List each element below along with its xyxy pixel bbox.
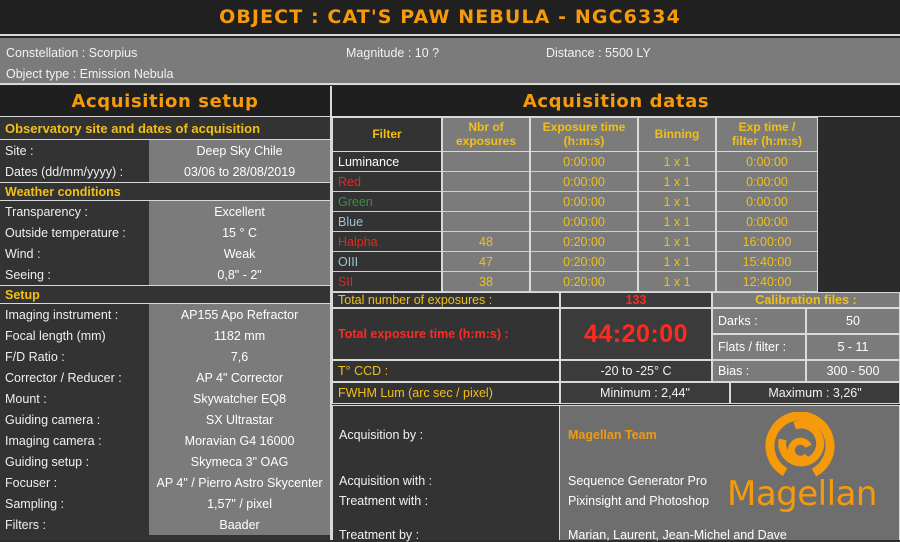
- row-key: Seeing :: [0, 264, 149, 285]
- row-spacer: [818, 272, 900, 292]
- filter-binning: 1 x 1: [638, 172, 716, 192]
- filters-table: Filter Nbr ofexposures Exposure time(h:m…: [332, 117, 900, 292]
- acquisition-with-value: Sequence Generator Pro: [568, 474, 707, 488]
- totals-row-time: Total exposure time (h:m:s) : 44:20:00 D…: [332, 308, 900, 360]
- section-title-weather: Weather conditions: [5, 185, 121, 199]
- total-time-wrap: Total exposure time (h:m:s) : 44:20:00: [332, 308, 712, 360]
- object-info-strip: Constellation : Scorpius Magnitude : 10 …: [0, 38, 900, 85]
- filters-table-header-row: Filter Nbr ofexposures Exposure time(h:m…: [332, 117, 900, 152]
- credits-labels: Acquisition by : Acquisition with : Trea…: [332, 406, 560, 540]
- calibration-key: Bias :: [712, 360, 806, 382]
- table-row: Filters : Baader: [0, 514, 330, 535]
- row-spacer: [818, 232, 900, 252]
- totals-row-ccd: T° CCD : -20 to -25° C Bias : 300 - 500: [332, 360, 900, 382]
- table-row: Site : Deep Sky Chile: [0, 140, 330, 161]
- data-sheet: OBJECT : CAT'S PAW NEBULA - NGC6334 Cons…: [0, 0, 900, 540]
- weather-rows: Transparency : Excellent Outside tempera…: [0, 201, 330, 285]
- filter-nbr: 47: [442, 252, 530, 272]
- row-key: Mount :: [0, 388, 149, 409]
- object-type-text: Object type : Emission Nebula: [6, 67, 346, 81]
- row-value: 1,57" / pixel: [149, 493, 330, 514]
- row-spacer: [818, 172, 900, 192]
- filter-name: Halpha: [332, 232, 442, 252]
- row-value: Excellent: [149, 201, 330, 222]
- row-value: Moravian G4 16000: [149, 430, 330, 451]
- magnitude-text: Magnitude : 10 ?: [346, 46, 546, 60]
- row-key: Corrector / Reducer :: [0, 367, 149, 388]
- row-spacer: [818, 252, 900, 272]
- totals-row-fwhm: FWHM Lum (arc sec / pixel) Minimum : 2,4…: [332, 382, 900, 404]
- total-exposure-time-label: Total exposure time (h:m:s) :: [332, 308, 560, 360]
- credits-block: Acquisition by : Acquisition with : Trea…: [332, 405, 900, 540]
- treatment-with-value: Pixinsight and Photoshop: [568, 494, 709, 508]
- object-info-row-1: Constellation : Scorpius Magnitude : 10 …: [6, 42, 894, 63]
- table-row: Mount : Skywatcher EQ8: [0, 388, 330, 409]
- filter-name: Green: [332, 192, 442, 212]
- filter-exposure: 0:00:00: [530, 212, 638, 232]
- fwhm-label: FWHM Lum (arc sec / pixel): [332, 382, 560, 404]
- row-value: 15 ° C: [149, 222, 330, 243]
- filter-exp-total: 12:40:00: [716, 272, 818, 292]
- table-row: Imaging instrument : AP155 Apo Refractor: [0, 304, 330, 325]
- column-header-binning: Binning: [638, 117, 716, 152]
- acquisition-setup-header: Acquisition setup: [0, 86, 332, 117]
- filter-name: OIII: [332, 252, 442, 272]
- row-value: AP 4" / Pierro Astro Skycenter: [149, 472, 330, 493]
- total-exposures-value: 133: [560, 292, 712, 308]
- setup-rows: Imaging instrument : AP155 Apo Refractor…: [0, 304, 330, 535]
- distance-text: Distance : 5500 LY: [546, 46, 766, 60]
- filter-exp-total: 15:40:00: [716, 252, 818, 272]
- row-value: Skywatcher EQ8: [149, 388, 330, 409]
- filter-name: Red: [332, 172, 442, 192]
- filter-exposure: 0:20:00: [530, 272, 638, 292]
- page-title-bar: OBJECT : CAT'S PAW NEBULA - NGC6334: [0, 0, 900, 36]
- treatment-with-label: Treatment with :: [339, 494, 428, 508]
- row-key: Guiding camera :: [0, 409, 149, 430]
- row-key: Guiding setup :: [0, 451, 149, 472]
- table-row: F/D Ratio : 7,6: [0, 346, 330, 367]
- row-value: Weak: [149, 243, 330, 264]
- row-key: Focal length (mm): [0, 325, 149, 346]
- table-row: OIII 47 0:20:00 1 x 1 15:40:00: [332, 252, 900, 272]
- filter-nbr: [442, 152, 530, 172]
- row-value: Skymeca 3" OAG: [149, 451, 330, 472]
- ccd-temp-value: -20 to -25° C: [560, 360, 712, 382]
- total-exposure-time-value: 44:20:00: [560, 308, 712, 360]
- total-exposures-label: Total number of exposures :: [332, 292, 560, 308]
- table-row: Seeing : 0,8" - 2": [0, 264, 330, 285]
- filter-binning: 1 x 1: [638, 192, 716, 212]
- filter-exp-total: 0:00:00: [716, 172, 818, 192]
- filter-exposure: 0:00:00: [530, 172, 638, 192]
- row-key: Imaging camera :: [0, 430, 149, 451]
- table-row: Halpha 48 0:20:00 1 x 1 16:00:00: [332, 232, 900, 252]
- row-key: Site :: [0, 140, 149, 161]
- column-header-filter: Filter: [332, 117, 442, 152]
- calibration-key: Flats / filter :: [712, 334, 806, 360]
- filter-nbr: 48: [442, 232, 530, 252]
- row-spacer: [818, 192, 900, 212]
- table-row: Blue 0:00:00 1 x 1 0:00:00: [332, 212, 900, 232]
- object-info-row-2: Object type : Emission Nebula: [6, 63, 894, 84]
- row-key: Wind :: [0, 243, 149, 264]
- filter-exposure: 0:00:00: [530, 152, 638, 172]
- row-value: Baader: [149, 514, 330, 535]
- table-row: Corrector / Reducer : AP 4" Corrector: [0, 367, 330, 388]
- filter-exp-total: 16:00:00: [716, 232, 818, 252]
- filter-exposure: 0:20:00: [530, 252, 638, 272]
- table-row: Imaging camera : Moravian G4 16000: [0, 430, 330, 451]
- column-header-nbr-exposures: Nbr ofexposures: [442, 117, 530, 152]
- ccd-temp-label: T° CCD :: [332, 360, 560, 382]
- filter-nbr: [442, 212, 530, 232]
- row-key: Transparency :: [0, 201, 149, 222]
- row-value: 0,8" - 2": [149, 264, 330, 285]
- acquisition-by-label: Acquisition by :: [339, 428, 423, 442]
- table-row: Transparency : Excellent: [0, 201, 330, 222]
- acquisition-setup-title: Acquisition setup: [71, 91, 258, 112]
- calibration-value: 5 - 11: [806, 334, 900, 360]
- row-value: 7,6: [149, 346, 330, 367]
- magellan-wordmark: Magellan: [721, 474, 883, 514]
- acquisition-setup-panel: Observatory site and dates of acquisitio…: [0, 117, 332, 540]
- acquisition-datas-panel: Filter Nbr ofexposures Exposure time(h:m…: [332, 117, 900, 540]
- table-row: Guiding setup : Skymeca 3" OAG: [0, 451, 330, 472]
- filter-exposure: 0:20:00: [530, 232, 638, 252]
- acquisition-with-label: Acquisition with :: [339, 474, 432, 488]
- table-row: Luminance 0:00:00 1 x 1 0:00:00: [332, 152, 900, 172]
- section-header-setup: Setup: [0, 285, 330, 304]
- row-value: 03/06 to 28/08/2019: [149, 161, 330, 182]
- calibration-key: Darks :: [712, 308, 806, 334]
- filter-exposure: 0:00:00: [530, 192, 638, 212]
- filter-binning: 1 x 1: [638, 232, 716, 252]
- calibration-value: 300 - 500: [806, 360, 900, 382]
- row-key: Focuser :: [0, 472, 149, 493]
- credits-values: Magellan Team Sequence Generator Pro Pix…: [560, 406, 900, 540]
- page-title: OBJECT : CAT'S PAW NEBULA - NGC6334: [219, 6, 681, 28]
- row-spacer: [818, 212, 900, 232]
- header-spacer: [818, 117, 900, 152]
- row-value: SX Ultrastar: [149, 409, 330, 430]
- totals-row-exposures: Total number of exposures : 133 Calibrat…: [332, 292, 900, 308]
- fwhm-min-value: Minimum : 2,44": [560, 382, 730, 404]
- filter-nbr: [442, 192, 530, 212]
- row-value: Deep Sky Chile: [149, 140, 330, 161]
- row-key: F/D Ratio :: [0, 346, 149, 367]
- row-value: AP155 Apo Refractor: [149, 304, 330, 325]
- filter-binning: 1 x 1: [638, 272, 716, 292]
- column-header-exp-time-filter: Exp time /filter (h:m:s): [716, 117, 818, 152]
- table-row: Outside temperature : 15 ° C: [0, 222, 330, 243]
- filter-nbr: [442, 172, 530, 192]
- section-title-observatory: Observatory site and dates of acquisitio…: [5, 121, 260, 136]
- row-value: AP 4" Corrector: [149, 367, 330, 388]
- table-row: Green 0:00:00 1 x 1 0:00:00: [332, 192, 900, 212]
- table-row: SII 38 0:20:00 1 x 1 12:40:00: [332, 272, 900, 292]
- row-spacer: [818, 152, 900, 172]
- filter-binning: 1 x 1: [638, 152, 716, 172]
- table-row: Guiding camera : SX Ultrastar: [0, 409, 330, 430]
- row-key: Outside temperature :: [0, 222, 149, 243]
- table-row: Darks : 50: [712, 308, 900, 334]
- filter-binning: 1 x 1: [638, 212, 716, 232]
- row-key: Imaging instrument :: [0, 304, 149, 325]
- table-row: Wind : Weak: [0, 243, 330, 264]
- table-row: Red 0:00:00 1 x 1 0:00:00: [332, 172, 900, 192]
- filter-nbr: 38: [442, 272, 530, 292]
- acquisition-datas-header: Acquisition datas: [332, 86, 900, 117]
- section-header-observatory: Observatory site and dates of acquisitio…: [0, 117, 330, 140]
- row-value: 1182 mm: [149, 325, 330, 346]
- fwhm-max-value: Maximum : 3,26": [730, 382, 900, 404]
- acquisition-by-value: Magellan Team: [568, 428, 657, 442]
- filter-name: SII: [332, 272, 442, 292]
- table-row: Flats / filter : 5 - 11: [712, 334, 900, 360]
- section-title-setup: Setup: [5, 288, 40, 302]
- filter-name: Blue: [332, 212, 442, 232]
- magellan-logo: Magellan: [715, 412, 885, 534]
- filter-exp-total: 0:00:00: [716, 192, 818, 212]
- magellan-spiral-icon: [715, 412, 885, 534]
- row-key: Dates (dd/mm/yyyy) :: [0, 161, 149, 182]
- table-row: Sampling : 1,57" / pixel: [0, 493, 330, 514]
- totals-block: Total number of exposures : 133 Calibrat…: [332, 292, 900, 404]
- calibration-files-header: Calibration files :: [712, 292, 900, 308]
- calibration-value: 50: [806, 308, 900, 334]
- filter-name: Luminance: [332, 152, 442, 172]
- row-key: Filters :: [0, 514, 149, 535]
- filter-binning: 1 x 1: [638, 252, 716, 272]
- table-row: Dates (dd/mm/yyyy) : 03/06 to 28/08/2019: [0, 161, 330, 182]
- column-header-exposure-time: Exposure time(h:m:s): [530, 117, 638, 152]
- constellation-text: Constellation : Scorpius: [6, 46, 346, 60]
- section-header-weather: Weather conditions: [0, 182, 330, 201]
- filter-exp-total: 0:00:00: [716, 152, 818, 172]
- table-row: Focuser : AP 4" / Pierro Astro Skycenter: [0, 472, 330, 493]
- row-key: Sampling :: [0, 493, 149, 514]
- filter-exp-total: 0:00:00: [716, 212, 818, 232]
- table-row: Focal length (mm) 1182 mm: [0, 325, 330, 346]
- acquisition-datas-title: Acquisition datas: [523, 91, 709, 112]
- observatory-rows: Site : Deep Sky Chile Dates (dd/mm/yyyy)…: [0, 140, 330, 182]
